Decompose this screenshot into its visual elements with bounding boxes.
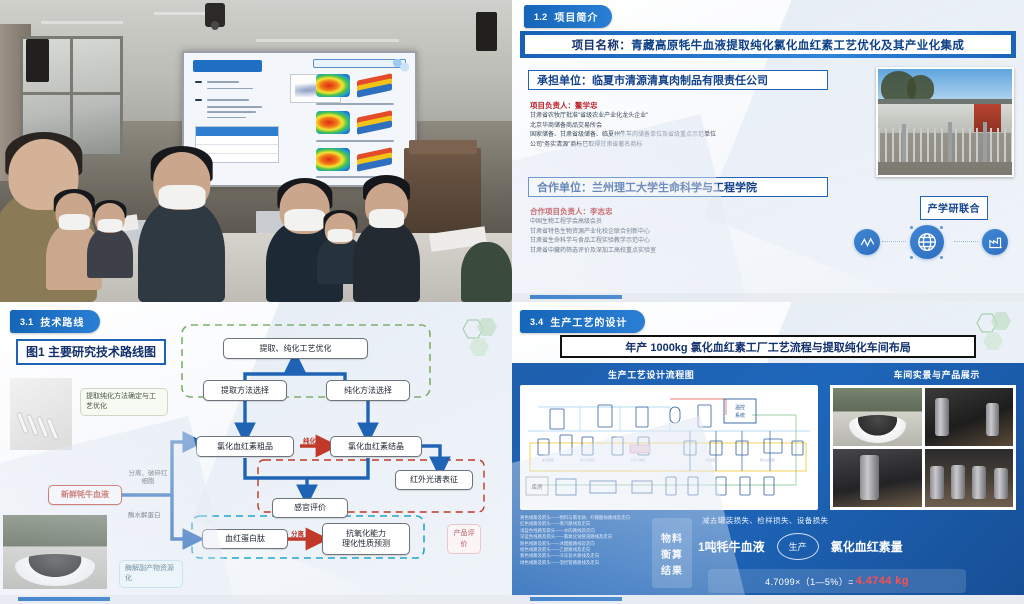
- undertaking-unit-box: 承担单位：临夏市清源清真肉制品有限责任公司: [528, 70, 828, 90]
- flow-node-antioxidant-prediction[interactable]: 抗氧化能力 理化性质预测: [322, 523, 410, 555]
- chip-label: 产学研联合: [928, 204, 981, 215]
- tank-line-photo: [925, 449, 1014, 507]
- flow-node-ir-spectrum[interactable]: 红外光谱表征: [395, 470, 473, 490]
- section-number: 3.4: [530, 317, 543, 327]
- balance-output-label: 氯化血红素量: [831, 538, 903, 555]
- list-item: 甘肃省特色生物资源产业化校企联合创新中心: [530, 228, 656, 238]
- attendee: [138, 199, 225, 302]
- svg-text:结晶釜: 结晶釜: [706, 457, 715, 462]
- svg-text:离心过滤机: 离心过滤机: [760, 457, 775, 462]
- slide-background: 1.2 项目简介 项目名称：青藏高原牦牛血液提取纯化氯化血红素工艺优化及其产业化…: [512, 0, 1024, 302]
- equipment-photo: [833, 449, 922, 507]
- project-title-text: 青藏高原牦牛血液提取纯化氯化血红素工艺优化及其产业化集成: [631, 40, 964, 52]
- projection-screen: [182, 51, 418, 187]
- product-photo: [833, 388, 922, 446]
- formula-left: 4.7099×（1—5%）=: [765, 575, 854, 588]
- panel-meeting-photo: [0, 0, 512, 302]
- hemin-powder-photo: [3, 515, 107, 589]
- heatmap-3: [316, 148, 351, 170]
- cooperation-unit-box: 合作单位：兰州理工大学生命科学与工程学院: [528, 177, 828, 197]
- legend-item: 绿色线路及箭头——温控管路路线及走向: [520, 560, 820, 566]
- svg-text:温控: 温控: [735, 404, 745, 411]
- footer-bar: [0, 595, 512, 604]
- list-item: 甘肃省农牧厅批准"省级农业产业化龙头企业": [530, 112, 716, 122]
- workshop-photo: [925, 388, 1014, 446]
- panel-production-design: 3.4 生产工艺的设计 年产 1000kg 氯化血红素工厂工艺流程与提取纯化车间…: [512, 302, 1024, 604]
- balance-formula: 4.7099×（1—5%）= 4.4744 kg: [708, 569, 966, 593]
- svg-text:离心分离机: 离心分离机: [580, 457, 595, 462]
- balance-char-3: 结果: [661, 562, 683, 577]
- list-item: 国家储备、甘肃省级储备、临夏州牛羊肉储备单位及省级重点示范单位: [530, 131, 716, 141]
- factory-gate-photo: [876, 67, 1014, 177]
- material-balance-title: 物料 衡算 结果: [652, 518, 692, 588]
- production-title-box: 年产 1000kg 氯化血红素工厂工艺流程与提取纯化车间布局: [560, 335, 976, 358]
- panel-project-intro: 1.2 项目简介 项目名称：青藏高原牦牛血液提取纯化氯化血红素工艺优化及其产业化…: [512, 0, 1024, 302]
- edge-label-purify: 纯化: [303, 435, 316, 445]
- svg-text:系统: 系统: [735, 412, 745, 419]
- ceiling-light: [256, 39, 399, 42]
- industry-academia-chip: 产学研联合: [920, 196, 989, 220]
- project-leader-label: 项目负责人：: [530, 101, 575, 110]
- node-line-2: 理化性质预测: [342, 539, 390, 549]
- co-leader-row: 合作项目负责人：李志忠: [530, 206, 613, 217]
- edge-label-hydrolysis: 酶水解蛋白: [128, 509, 161, 519]
- svg-text:冷冻干燥机: 冷冻干燥机: [630, 457, 645, 462]
- surface-plot-2: [357, 113, 392, 133]
- callout-extraction-purification: 提取纯化方法确定与工艺优化: [80, 388, 168, 416]
- slide-section-tag: [193, 60, 262, 72]
- hexagon-decoration: [970, 310, 1016, 354]
- balance-equation-row: 1吨牦牛血液 生产 氯化血红素量: [698, 533, 903, 560]
- flow-node-extraction-method[interactable]: 提取方法选择: [203, 380, 287, 401]
- surface-plot-1: [357, 76, 392, 96]
- attendee: [87, 227, 133, 278]
- produce-arrow-label: 生产: [777, 533, 819, 560]
- list-item: 中国生物工程学会高级会员: [530, 218, 656, 228]
- signal-icon[interactable]: [854, 229, 880, 255]
- formula-result: 4.4744 kg: [856, 575, 909, 587]
- svg-text:血液储罐: 血液储罐: [542, 457, 554, 462]
- footer-bar: [512, 293, 1024, 302]
- slide-background: 3.1 技术路线 图1 主要研究技术路线图: [0, 302, 512, 604]
- section-label: 项目简介: [554, 9, 598, 24]
- meeting-room-photo: [0, 0, 512, 302]
- panel-tech-route: 3.1 技术路线 图1 主要研究技术路线图: [0, 302, 512, 604]
- co-leader-bullets: 中国生物工程学会高级会员 甘肃省特色生物资源产业化校企联合创新中心 甘肃省生命科…: [530, 218, 656, 256]
- flow-node-crude-hemin[interactable]: 氯化血红素粗品: [196, 436, 294, 457]
- section-number: 1.2: [534, 12, 547, 22]
- list-item: 甘肃省生命科学与食品工程实验教学示范中心: [530, 237, 656, 247]
- production-title-text: 年产 1000kg 氯化血红素工厂工艺流程与提取纯化车间布局: [625, 339, 910, 355]
- list-item: 公司"务实清源"商标已取得甘肃省著名商标: [530, 141, 716, 151]
- leader-bullets: 甘肃省农牧厅批准"省级农业产业化龙头企业" 北京华商储备商品交易所会 国家储备、…: [530, 112, 716, 150]
- globe-icon[interactable]: [910, 225, 944, 259]
- factory-icon[interactable]: [982, 229, 1008, 255]
- heatmap-2: [316, 111, 351, 133]
- list-item: 甘肃省中藏药筛选评价及深加工高校重点实验室: [530, 247, 656, 257]
- co-leader-name: 李志忠: [590, 207, 613, 216]
- node-line-1: 抗氧化能力: [346, 529, 386, 539]
- podium: [404, 148, 481, 233]
- speaker: [26, 39, 49, 81]
- undertaking-unit-label: 承担单位：临夏市清源清真肉制品有限责任公司: [537, 72, 768, 88]
- edge-label-split-cells: 分离、破碎红细胞: [126, 470, 170, 486]
- heatmap-1: [316, 74, 351, 96]
- slide-background: 3.4 生产工艺的设计 年产 1000kg 氯化血红素工厂工艺流程与提取纯化车间…: [512, 302, 1024, 604]
- attendee: [353, 220, 420, 302]
- list-item: 北京华商储备商品交易所会: [530, 122, 716, 132]
- section-tag-3-4[interactable]: 3.4 生产工艺的设计: [520, 310, 645, 333]
- callout-product-evaluation: 产品评价: [447, 524, 481, 554]
- speaker: [476, 12, 496, 51]
- flow-node-sensory-evaluation[interactable]: 感官评价: [272, 498, 348, 518]
- surface-plot-3: [357, 150, 392, 170]
- sample-vials-photo: [10, 378, 72, 450]
- cooperation-unit-label: 合作单位：兰州理工大学生命科学与工程学院: [537, 179, 757, 195]
- flow-node-hemoglobin-peptide[interactable]: 血红蛋白肽: [202, 529, 288, 549]
- collaboration-icons: [848, 222, 1016, 268]
- co-leader-label: 合作项目负责人：: [530, 207, 590, 216]
- screenshot-root: 1.2 项目简介 项目名称：青藏高原牦牛血液提取纯化氯化血红素工艺优化及其产业化…: [0, 0, 1024, 604]
- project-leader-row: 项目负责人：鳌学忠: [530, 100, 598, 111]
- section-tag-1-2[interactable]: 1.2 项目简介: [524, 5, 612, 28]
- balance-char-2: 衡算: [661, 546, 683, 561]
- project-title-prefix: 项目名称：: [572, 40, 632, 52]
- section-label: 生产工艺的设计: [550, 314, 627, 329]
- svg-text:库房: 库房: [531, 483, 543, 491]
- production-body: 生产工艺设计流程图 车间实景与产品展示: [512, 363, 1024, 595]
- slide-dots-deco: [390, 59, 411, 72]
- balance-char-1: 物料: [661, 530, 683, 545]
- project-title-banner: 项目名称：青藏高原牦牛血液提取纯化氯化血红素工艺优化及其产业化集成: [520, 31, 1016, 58]
- flow-node-hemin-crystal[interactable]: 氯化血红素结晶: [330, 436, 422, 457]
- attendee: [461, 242, 512, 302]
- loss-note: 减去罐装损失、检样损失、设备损失: [702, 515, 828, 526]
- balance-input-label: 1吨牦牛血液: [698, 538, 765, 555]
- project-leader-name: 鳌学忠: [575, 101, 598, 110]
- flow-node-purification-method[interactable]: 纯化方法选择: [326, 380, 410, 401]
- subtitle-workshop-photos: 车间实景与产品展示: [894, 368, 980, 381]
- callout-byproduct-resource: 酶解副产物资源化: [119, 560, 183, 588]
- flow-node-fresh-yak-blood[interactable]: 新鲜牦牛血液: [48, 485, 122, 505]
- subtitle-flow-diagram: 生产工艺设计流程图: [608, 368, 694, 381]
- flow-node-process-optimization[interactable]: 提取、纯化工艺优化: [223, 338, 368, 359]
- process-flow-diagram[interactable]: 温控 系统 库房 血液储罐离心分离机冷冻干燥机 结晶釜离心过滤机: [520, 385, 818, 510]
- workshop-photo-grid: [830, 385, 1016, 510]
- projector: [205, 3, 225, 27]
- edge-label-separate: 分离: [291, 528, 304, 538]
- ceiling-light: [41, 21, 123, 24]
- footer-bar: [512, 595, 1024, 604]
